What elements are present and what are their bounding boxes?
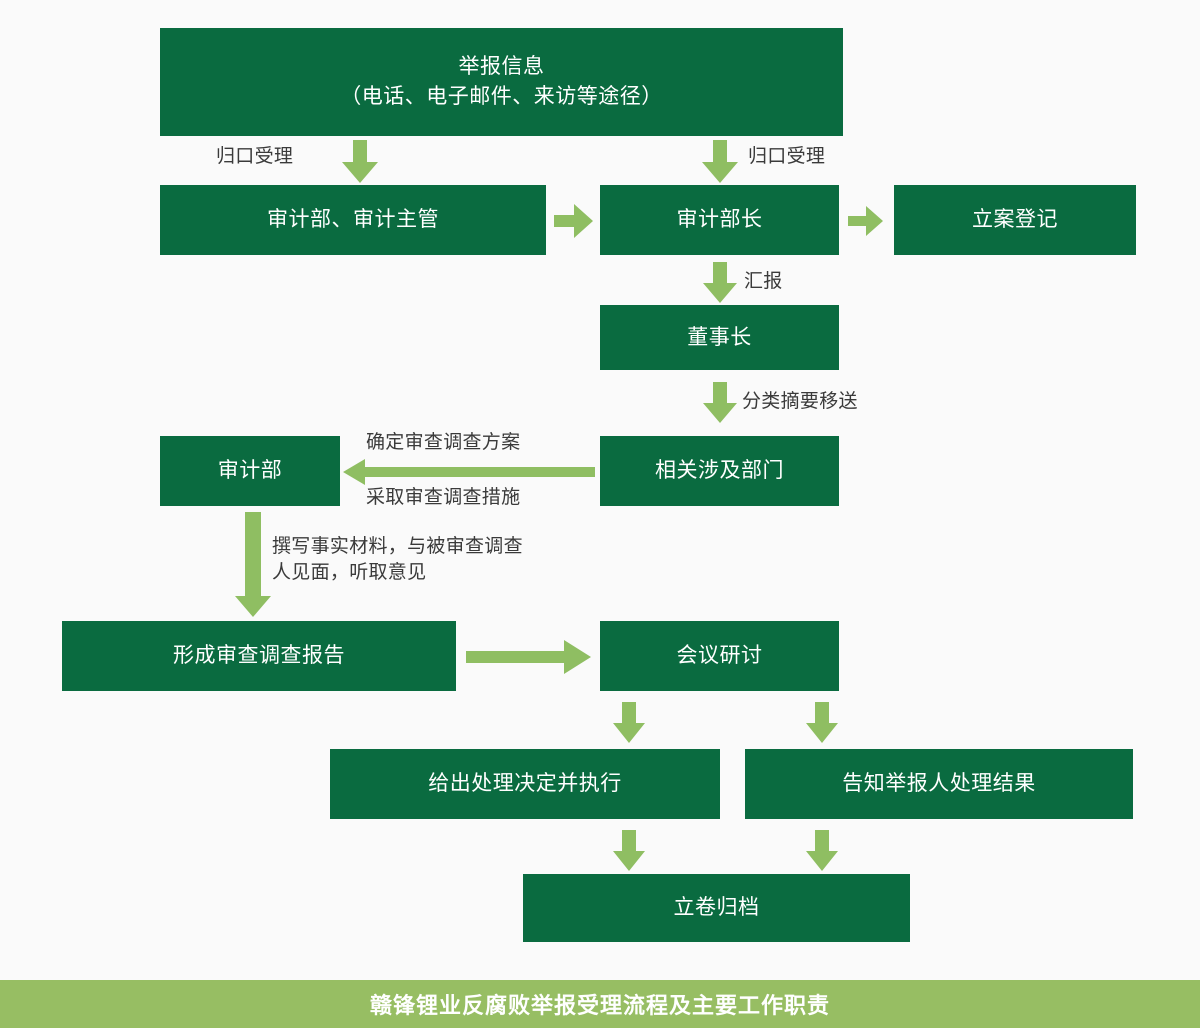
edge-label-classify-transfer: 分类摘要移送 <box>742 389 858 415</box>
node-audit-director: 审计部长 <box>600 185 839 255</box>
node-report-info-line1: 举报信息 <box>340 52 663 82</box>
arrow-left-investigation <box>343 459 595 485</box>
edge-label-write-materials-line2: 人见面，听取意见 <box>272 562 426 583</box>
edge-label-write-materials: 撰写事实材料，与被审查调查 人见面，听取意见 <box>272 534 523 585</box>
node-meeting-discussion: 会议研讨 <box>600 621 839 691</box>
node-notify-informant-result: 告知举报人处理结果 <box>745 749 1133 819</box>
node-report-info: 举报信息 （电话、电子邮件、来访等途径） <box>160 28 843 136</box>
edge-label-intake-right: 归口受理 <box>748 144 825 170</box>
arrow-down-intake-left <box>338 140 382 184</box>
node-file-archiving: 立卷归档 <box>523 874 910 942</box>
arrow-down-report <box>700 262 740 304</box>
arrow-down-classify-transfer <box>700 382 740 424</box>
edge-label-report-to-chairman: 汇报 <box>744 269 783 295</box>
arrow-right-to-case-registration <box>848 206 884 236</box>
arrow-down-intake-right <box>698 140 742 184</box>
caption-bar: 赣锋锂业反腐败举报受理流程及主要工作职责 <box>0 980 1200 1028</box>
flowchart-canvas: 举报信息 （电话、电子邮件、来访等途径） 归口受理 归口受理 审计部、审计主管 … <box>0 0 1200 1028</box>
node-related-departments: 相关涉及部门 <box>600 436 839 506</box>
node-audit-dept: 审计部 <box>160 436 340 506</box>
edge-label-take-measures: 采取审查调查措施 <box>366 485 520 511</box>
edge-label-determine-plan: 确定审查调查方案 <box>366 430 520 456</box>
node-issue-and-execute-decision: 给出处理决定并执行 <box>330 749 720 819</box>
edge-label-write-materials-line1: 撰写事实材料，与被审查调查 <box>272 536 523 557</box>
arrow-right-to-meeting <box>466 640 592 674</box>
node-case-registration: 立案登记 <box>894 185 1136 255</box>
node-chairman: 董事长 <box>600 305 839 370</box>
caption-text: 赣锋锂业反腐败举报受理流程及主要工作职责 <box>370 988 830 1020</box>
arrow-down-decision-to-archive <box>611 830 647 872</box>
node-report-info-line2: （电话、电子邮件、来访等途径） <box>340 82 663 112</box>
arrow-right-to-audit-director <box>554 204 594 238</box>
arrow-down-notify-to-archive <box>804 830 840 872</box>
node-audit-dept-and-supervisor: 审计部、审计主管 <box>160 185 546 255</box>
arrow-down-write-materials <box>233 512 273 618</box>
node-form-investigation-report: 形成审查调查报告 <box>62 621 456 691</box>
edge-label-intake-left: 归口受理 <box>216 144 293 170</box>
arrow-down-to-decision <box>611 702 647 744</box>
arrow-down-to-notify <box>804 702 840 744</box>
